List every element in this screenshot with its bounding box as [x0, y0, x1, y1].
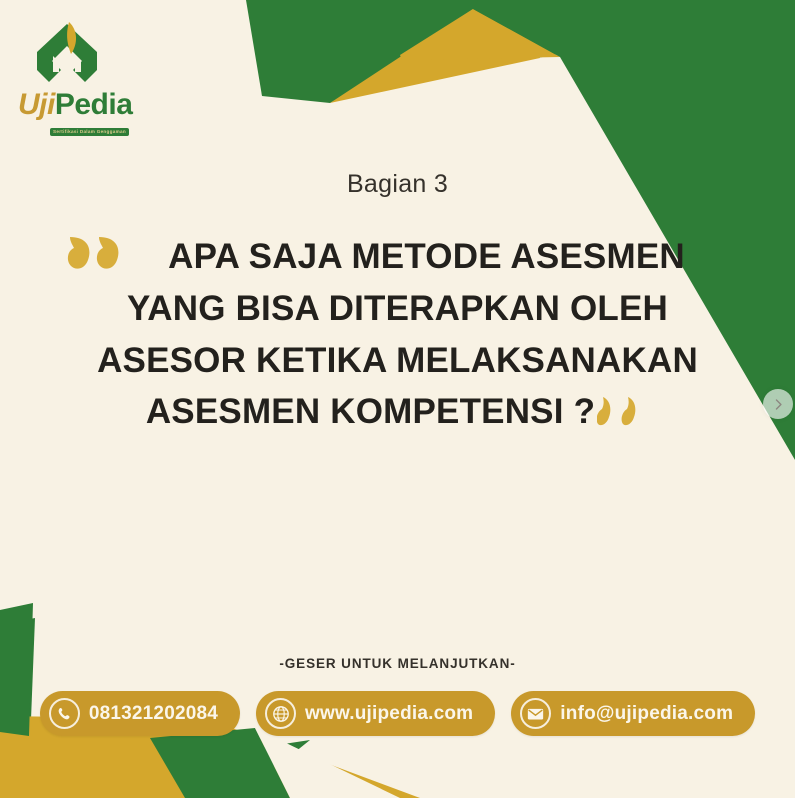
headline-line-4-wrap: ASESMEN KOMPETENSI ? — [40, 386, 755, 438]
contact-row: 081321202084 www.ujipedia.com — [0, 691, 795, 736]
logo-wordmark: UjiPedia — [18, 90, 148, 120]
slide-footer: -GESER UNTUK MELANJUTKAN- 081321202084 — [0, 656, 795, 736]
contact-label-website: www.ujipedia.com — [305, 703, 473, 725]
logo-tagline: Sertifikasi Dalam Genggaman — [53, 129, 126, 135]
contact-pill-website[interactable]: www.ujipedia.com — [256, 691, 495, 736]
slide-content: Bagian 3 APA SAJA METODE ASESMEN YANG BI… — [0, 170, 795, 438]
headline-line-4: ASESMEN KOMPETENSI ? — [146, 392, 595, 431]
phone-icon — [49, 698, 80, 729]
headline-line-1: APA SAJA METODE ASESMEN — [40, 231, 755, 283]
contact-pill-phone[interactable]: 081321202084 — [40, 691, 240, 736]
chevron-right-icon — [772, 398, 785, 411]
swipe-hint: -GESER UNTUK MELANJUTKAN- — [0, 656, 795, 671]
instagram-carousel-slide: UjiPedia Sertifikasi Dalam Genggaman Bag… — [0, 0, 795, 798]
carousel-next-button[interactable] — [763, 389, 793, 419]
quote-open-icon — [66, 233, 124, 273]
headline-line-2: YANG BISA DITERAPKAN OLEH — [40, 283, 755, 335]
brand-logo: UjiPedia Sertifikasi Dalam Genggaman — [18, 18, 148, 138]
headline-block: APA SAJA METODE ASESMEN YANG BISA DITERA… — [0, 231, 795, 438]
section-label: Bagian 3 — [0, 170, 795, 199]
logo-tagline-band: Sertifikasi Dalam Genggaman — [50, 128, 129, 136]
logo-word-pedia: Pedia — [55, 88, 133, 121]
contact-label-email: info@ujipedia.com — [560, 703, 733, 725]
quote-close-icon — [597, 392, 649, 426]
contact-label-phone: 081321202084 — [89, 703, 218, 725]
contact-pill-email[interactable]: info@ujipedia.com — [511, 691, 755, 736]
headline-line-3: ASESOR KETIKA MELAKSANAKAN — [40, 335, 755, 387]
mail-icon — [520, 698, 551, 729]
logo-word-uji: Uji — [18, 88, 55, 121]
ujipedia-logo-mark — [28, 18, 106, 88]
globe-icon — [265, 698, 296, 729]
